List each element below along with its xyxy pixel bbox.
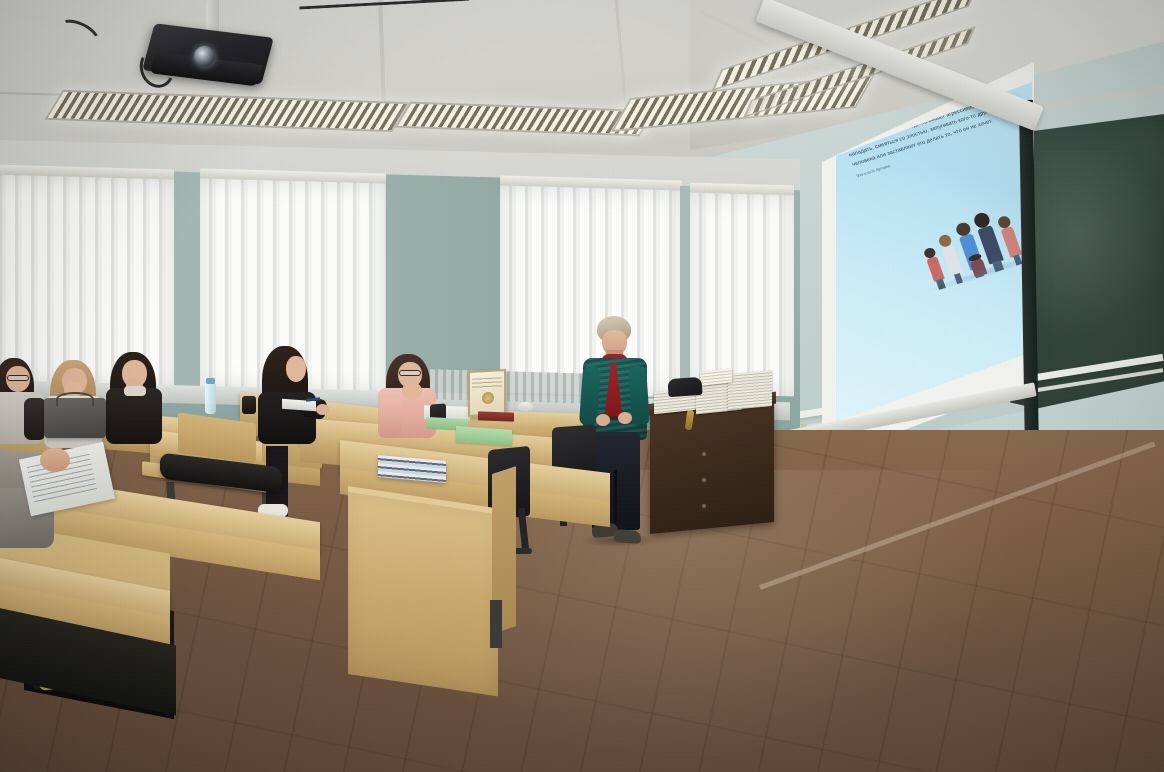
presenter-hand <box>618 412 632 424</box>
cabinet-handle[interactable] <box>702 452 706 456</box>
handbag-handle <box>56 392 94 406</box>
black-case <box>242 396 256 414</box>
bottle-cap <box>206 378 215 384</box>
cabinet-handle[interactable] <box>702 478 706 482</box>
cabinet-handle[interactable] <box>702 504 706 508</box>
window-mullion <box>174 172 202 391</box>
student-hand <box>402 382 422 400</box>
glasses-icon <box>399 370 421 376</box>
presenter-shoe <box>614 529 642 544</box>
student-face <box>286 356 306 382</box>
student-hand <box>316 404 329 415</box>
student-collar <box>124 386 146 396</box>
desk-leg <box>490 600 502 648</box>
presenter-hand <box>596 414 610 426</box>
student-arm <box>24 398 46 440</box>
student-torso <box>106 388 162 444</box>
certificate-text-lines <box>472 377 502 391</box>
window-blinds[interactable] <box>0 173 174 390</box>
projector-lens-icon <box>194 46 215 67</box>
paper-stack <box>728 370 772 410</box>
chalkboard-haze <box>1016 150 1164 340</box>
presenter-trouser-seam <box>614 470 617 532</box>
slide-figure <box>923 247 945 282</box>
bag-on-cabinet <box>667 377 702 397</box>
glasses-icon <box>7 375 29 381</box>
water-bottle <box>205 382 216 414</box>
red-book <box>478 411 514 421</box>
classroom-photograph: Буллинг или Травля Когда один человек ил… <box>0 0 1164 772</box>
wooden-cabinet <box>650 400 774 534</box>
computer-mouse <box>518 402 533 411</box>
desk-front-panel <box>348 492 498 696</box>
window-blinds[interactable] <box>690 192 794 397</box>
student-arm <box>378 398 402 438</box>
student-hand <box>40 448 70 472</box>
